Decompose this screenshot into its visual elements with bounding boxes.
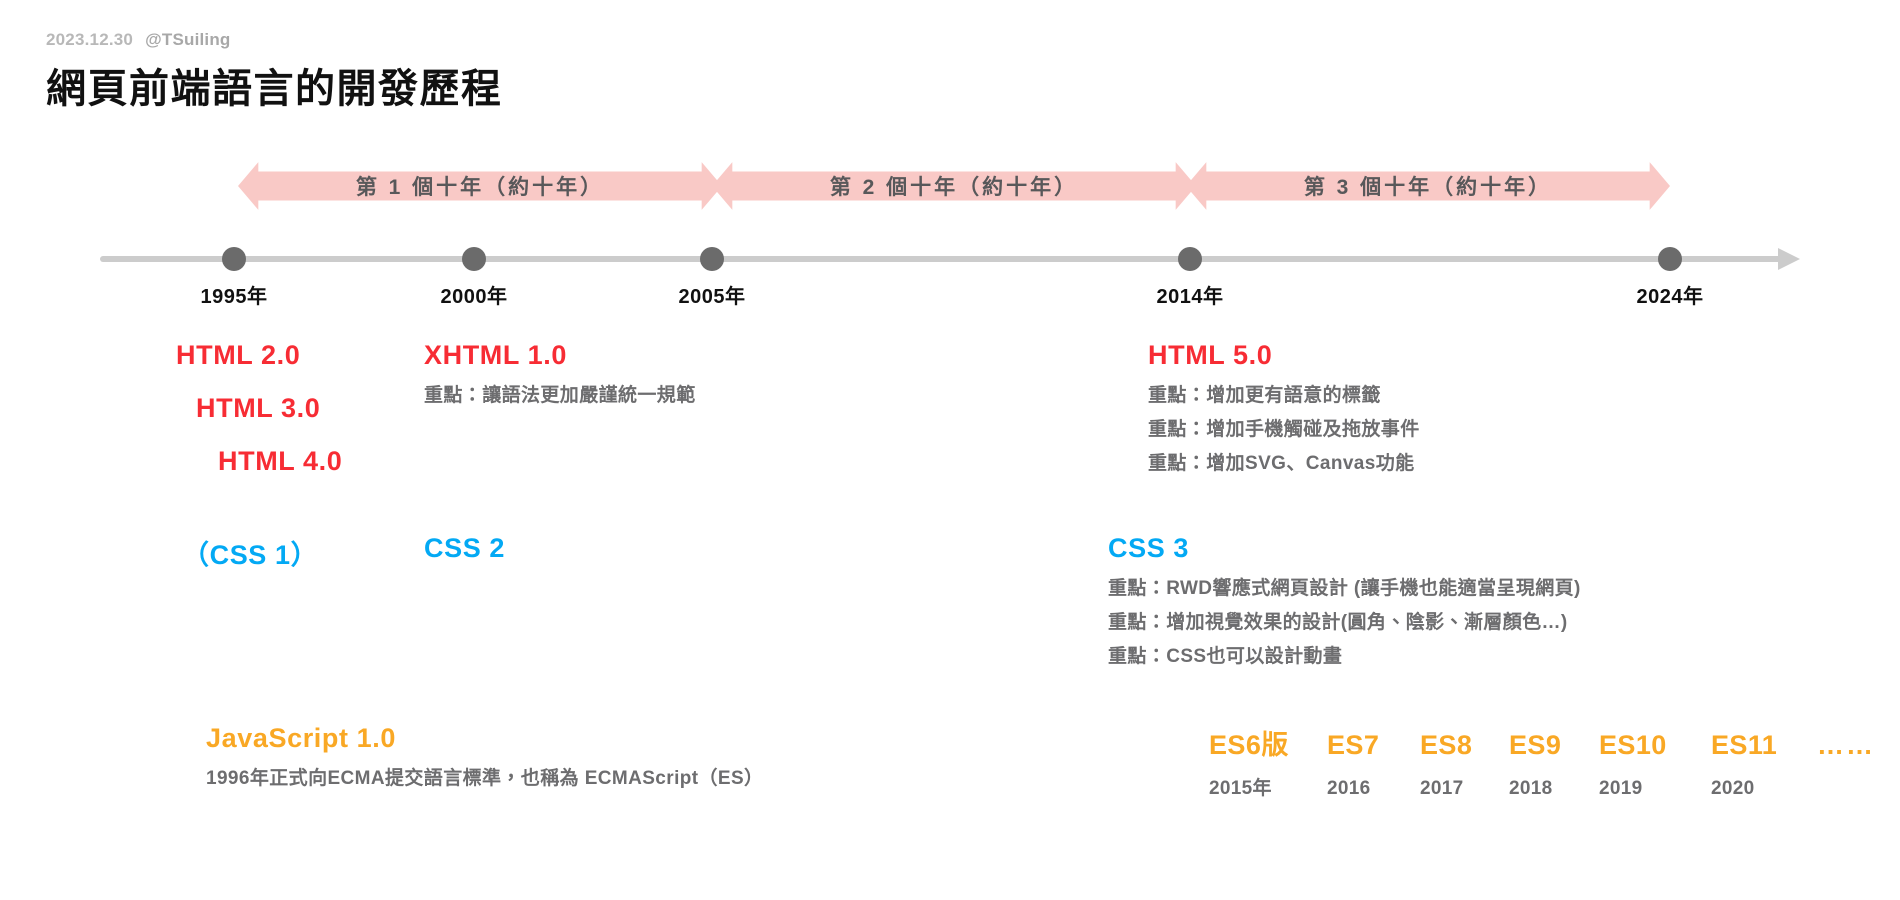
es-continuation-ellipsis: …… — [1817, 730, 1875, 761]
timeline-dot-2014[interactable] — [1178, 247, 1202, 271]
es-year-2016: 2016 — [1327, 778, 1420, 800]
css3-note-3: 重點：CSS也可以設計動畫 — [1108, 641, 1581, 668]
author-handle: @TSuiling — [145, 30, 230, 49]
es-name-es8: ES8 — [1420, 730, 1509, 761]
css1-block: （CSS 1） — [182, 533, 318, 572]
es-year-2018: 2018 — [1509, 778, 1599, 800]
es-name-es7: ES7 — [1327, 730, 1420, 761]
css3-title: CSS 3 — [1108, 533, 1581, 564]
axis-arrowhead-icon — [1778, 248, 1800, 270]
css3-note-2: 重點：增加視覺效果的設計(圓角、陰影、漸層顏色…) — [1108, 607, 1581, 634]
javascript-block: JavaScript 1.0 1996年正式向ECMA提交語言標準，也稱為 EC… — [206, 723, 763, 790]
html-version-4: HTML 4.0 — [218, 446, 342, 477]
xhtml-title: XHTML 1.0 — [424, 340, 696, 371]
decade-arrow-3: 第 3 個十年（約十年） — [1186, 160, 1670, 212]
es-versions-block: ES6版 ES7 ES8 ES9 ES10 ES11 …… 2015年 2016… — [1209, 723, 1875, 800]
es-year-2017: 2017 — [1420, 778, 1509, 800]
html-version-3: HTML 3.0 — [196, 393, 342, 424]
axis-line — [100, 256, 1790, 262]
html5-title: HTML 5.0 — [1148, 340, 1420, 371]
html5-block: HTML 5.0 重點：增加更有語意的標籤 重點：增加手機觸碰及拖放事件 重點：… — [1148, 340, 1420, 475]
decade-arrow-1: 第 1 個十年（約十年） — [238, 160, 722, 212]
es-year-2020: 2020 — [1711, 778, 1817, 800]
decade-label-3: 第 3 個十年（約十年） — [1304, 171, 1552, 201]
javascript-note-1: 1996年正式向ECMA提交語言標準，也稱為 ECMAScript（ES） — [206, 763, 763, 790]
css2-title: CSS 2 — [424, 533, 505, 564]
decade-arrow-band: 第 1 個十年（約十年） 第 2 個十年（約十年） 第 3 個十年（約十年） — [0, 160, 1900, 212]
meta-line: 2023.12.30@TSuiling — [46, 30, 503, 50]
xhtml-block: XHTML 1.0 重點：讓語法更加嚴謹統一規範 — [424, 340, 696, 407]
es-versions-name-row: ES6版 ES7 ES8 ES9 ES10 ES11 …… — [1209, 723, 1875, 762]
es-name-es11: ES11 — [1711, 730, 1817, 761]
page-header: 2023.12.30@TSuiling 網頁前端語言的開發歷程 — [46, 30, 503, 114]
es-name-es10: ES10 — [1599, 730, 1711, 761]
es-versions-year-row: 2015年 2016 2017 2018 2019 2020 — [1209, 773, 1875, 800]
xhtml-note-1: 重點：讓語法更加嚴謹統一規範 — [424, 380, 696, 407]
timeline-dot-1995[interactable] — [222, 247, 246, 271]
es-name-es9: ES9 — [1509, 730, 1599, 761]
es-year-2015: 2015年 — [1209, 773, 1327, 800]
timeline-dot-2005[interactable] — [700, 247, 724, 271]
year-label-2014: 2014年 — [1157, 280, 1224, 309]
css3-block: CSS 3 重點：RWD響應式網頁設計 (讓手機也能適當呈現網頁) 重點：增加視… — [1108, 533, 1581, 668]
timeline-axis: 1995年 2000年 2005年 2014年 2024年 — [100, 252, 1800, 266]
javascript-title: JavaScript 1.0 — [206, 723, 763, 754]
css1-title: （CSS 1） — [182, 533, 318, 572]
html-early-versions-block: HTML 2.0 HTML 3.0 HTML 4.0 — [176, 340, 342, 477]
year-label-2024: 2024年 — [1637, 280, 1704, 309]
publish-date: 2023.12.30 — [46, 30, 133, 49]
html5-note-1: 重點：增加更有語意的標籤 — [1148, 380, 1420, 407]
year-label-1995: 1995年 — [201, 280, 268, 309]
decade-arrow-2: 第 2 個十年（約十年） — [712, 160, 1196, 212]
css3-note-1: 重點：RWD響應式網頁設計 (讓手機也能適當呈現網頁) — [1108, 573, 1581, 600]
year-label-2005: 2005年 — [679, 280, 746, 309]
timeline-dot-2024[interactable] — [1658, 247, 1682, 271]
css2-block: CSS 2 — [424, 533, 505, 564]
timeline-dot-2000[interactable] — [462, 247, 486, 271]
html-version-2: HTML 2.0 — [176, 340, 342, 371]
es-name-es6: ES6版 — [1209, 723, 1327, 762]
es-year-2019: 2019 — [1599, 778, 1711, 800]
html5-note-3: 重點：增加SVG、Canvas功能 — [1148, 448, 1420, 475]
html5-note-2: 重點：增加手機觸碰及拖放事件 — [1148, 414, 1420, 441]
page-title: 網頁前端語言的開發歷程 — [46, 56, 503, 114]
decade-label-1: 第 1 個十年（約十年） — [356, 171, 604, 201]
year-label-2000: 2000年 — [441, 280, 508, 309]
decade-label-2: 第 2 個十年（約十年） — [830, 171, 1078, 201]
